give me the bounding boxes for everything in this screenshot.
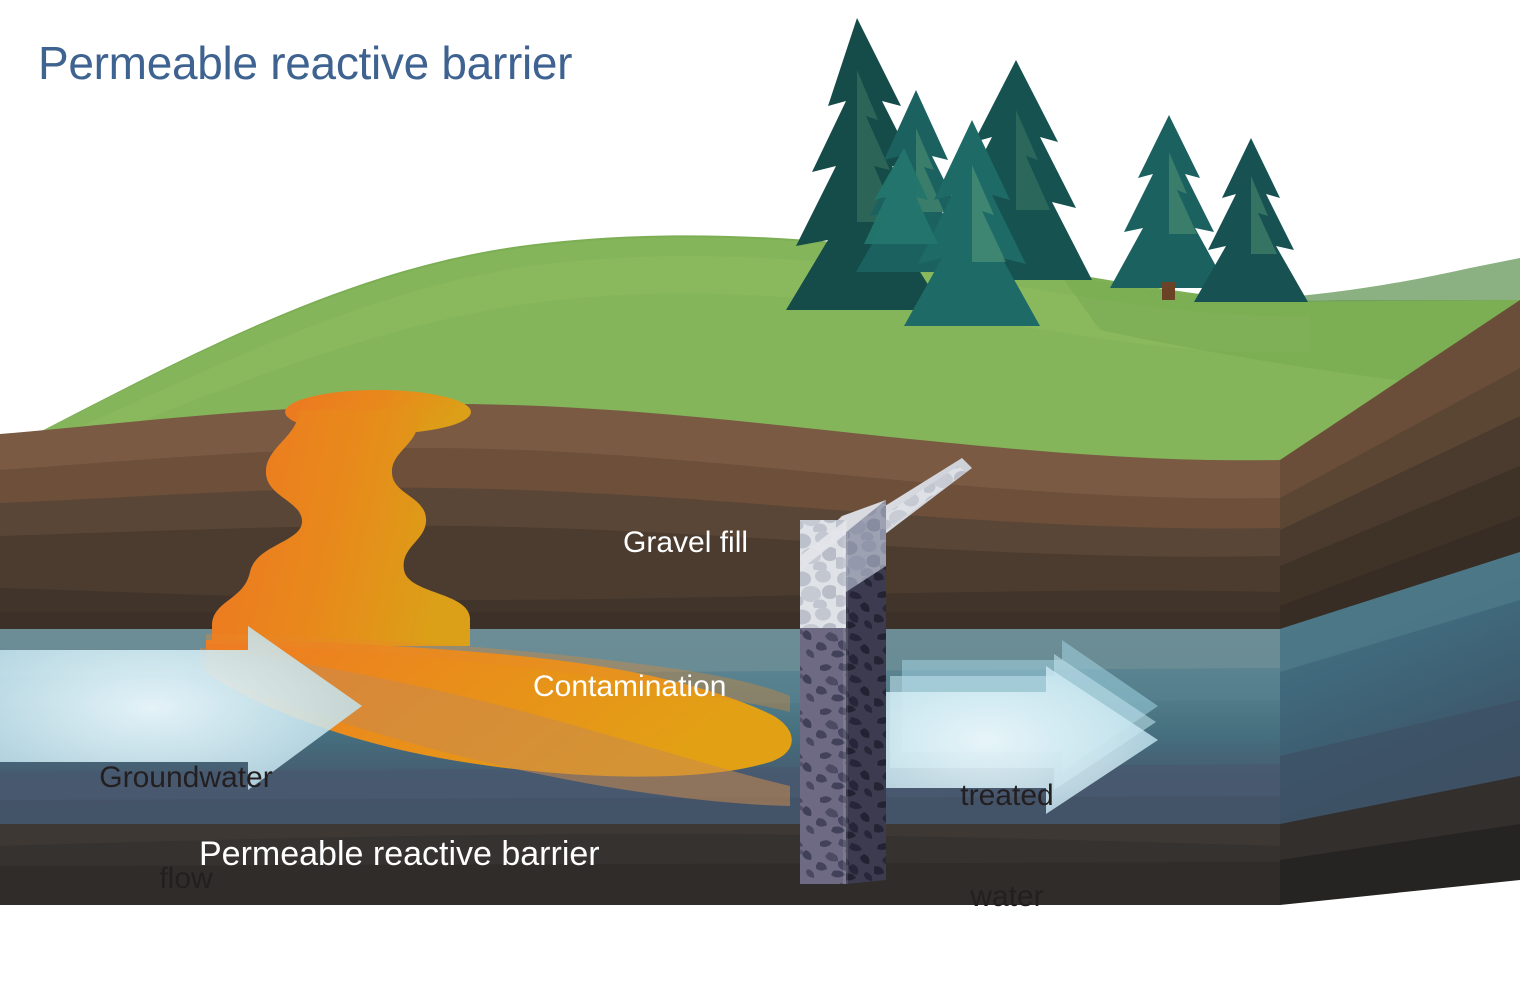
- bedrock-front: [0, 824, 1280, 905]
- permeable-reactive-barrier-illustration: [0, 0, 1520, 928]
- reactive-media-right: [846, 566, 886, 884]
- barrier-edge-highlight: [843, 520, 848, 884]
- diagram-canvas: Permeable reactive barrier Gravel fill C…: [0, 0, 1520, 928]
- reactive-media-front: [800, 628, 846, 884]
